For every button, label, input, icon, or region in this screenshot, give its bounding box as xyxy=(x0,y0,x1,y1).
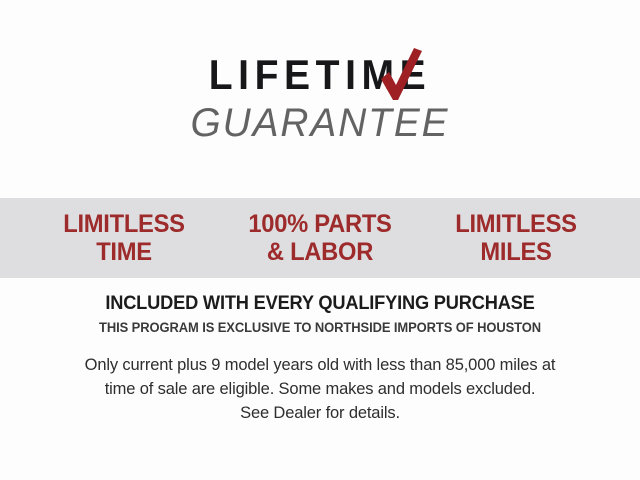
fineprint-line: See Dealer for details. xyxy=(0,401,640,425)
feature-column-limitless-time: LIMITLESS TIME xyxy=(31,210,217,266)
fineprint-line: Only current plus 9 model years old with… xyxy=(0,353,640,377)
feature-column-limitless-miles: LIMITLESS MILES xyxy=(423,210,609,266)
logo-inner: LIFETIME GUARANTEE xyxy=(170,48,470,158)
lower-copy-block: INCLUDED WITH EVERY QUALIFYING PURCHASE … xyxy=(0,292,640,425)
feature-line-1: LIMITLESS xyxy=(455,210,576,238)
headline: INCLUDED WITH EVERY QUALIFYING PURCHASE xyxy=(13,292,627,316)
logo-word-lifetime: LIFETIME xyxy=(181,52,460,98)
feature-line-1: 100% PARTS xyxy=(248,210,391,238)
fineprint-line: time of sale are eligible. Some makes an… xyxy=(0,377,640,401)
feature-line-1: LIMITLESS xyxy=(63,210,184,238)
fineprint-block: Only current plus 9 model years old with… xyxy=(0,353,640,425)
subheadline: THIS PROGRAM IS EXCLUSIVE TO NORTHSIDE I… xyxy=(13,318,627,337)
logo-word-guarantee: GUARANTEE xyxy=(175,101,466,145)
feature-line-2: & LABOR xyxy=(227,238,413,266)
feature-band: LIMITLESS TIME 100% PARTS & LABOR LIMITL… xyxy=(0,198,640,278)
feature-line-2: MILES xyxy=(423,238,609,266)
feature-line-2: TIME xyxy=(31,238,217,266)
logo-lockup: LIFETIME GUARANTEE xyxy=(0,48,640,158)
feature-column-parts-labor: 100% PARTS & LABOR xyxy=(227,210,413,266)
lifetime-guarantee-poster: LIFETIME GUARANTEE LIMITLESS TIME 100% P… xyxy=(0,0,640,480)
